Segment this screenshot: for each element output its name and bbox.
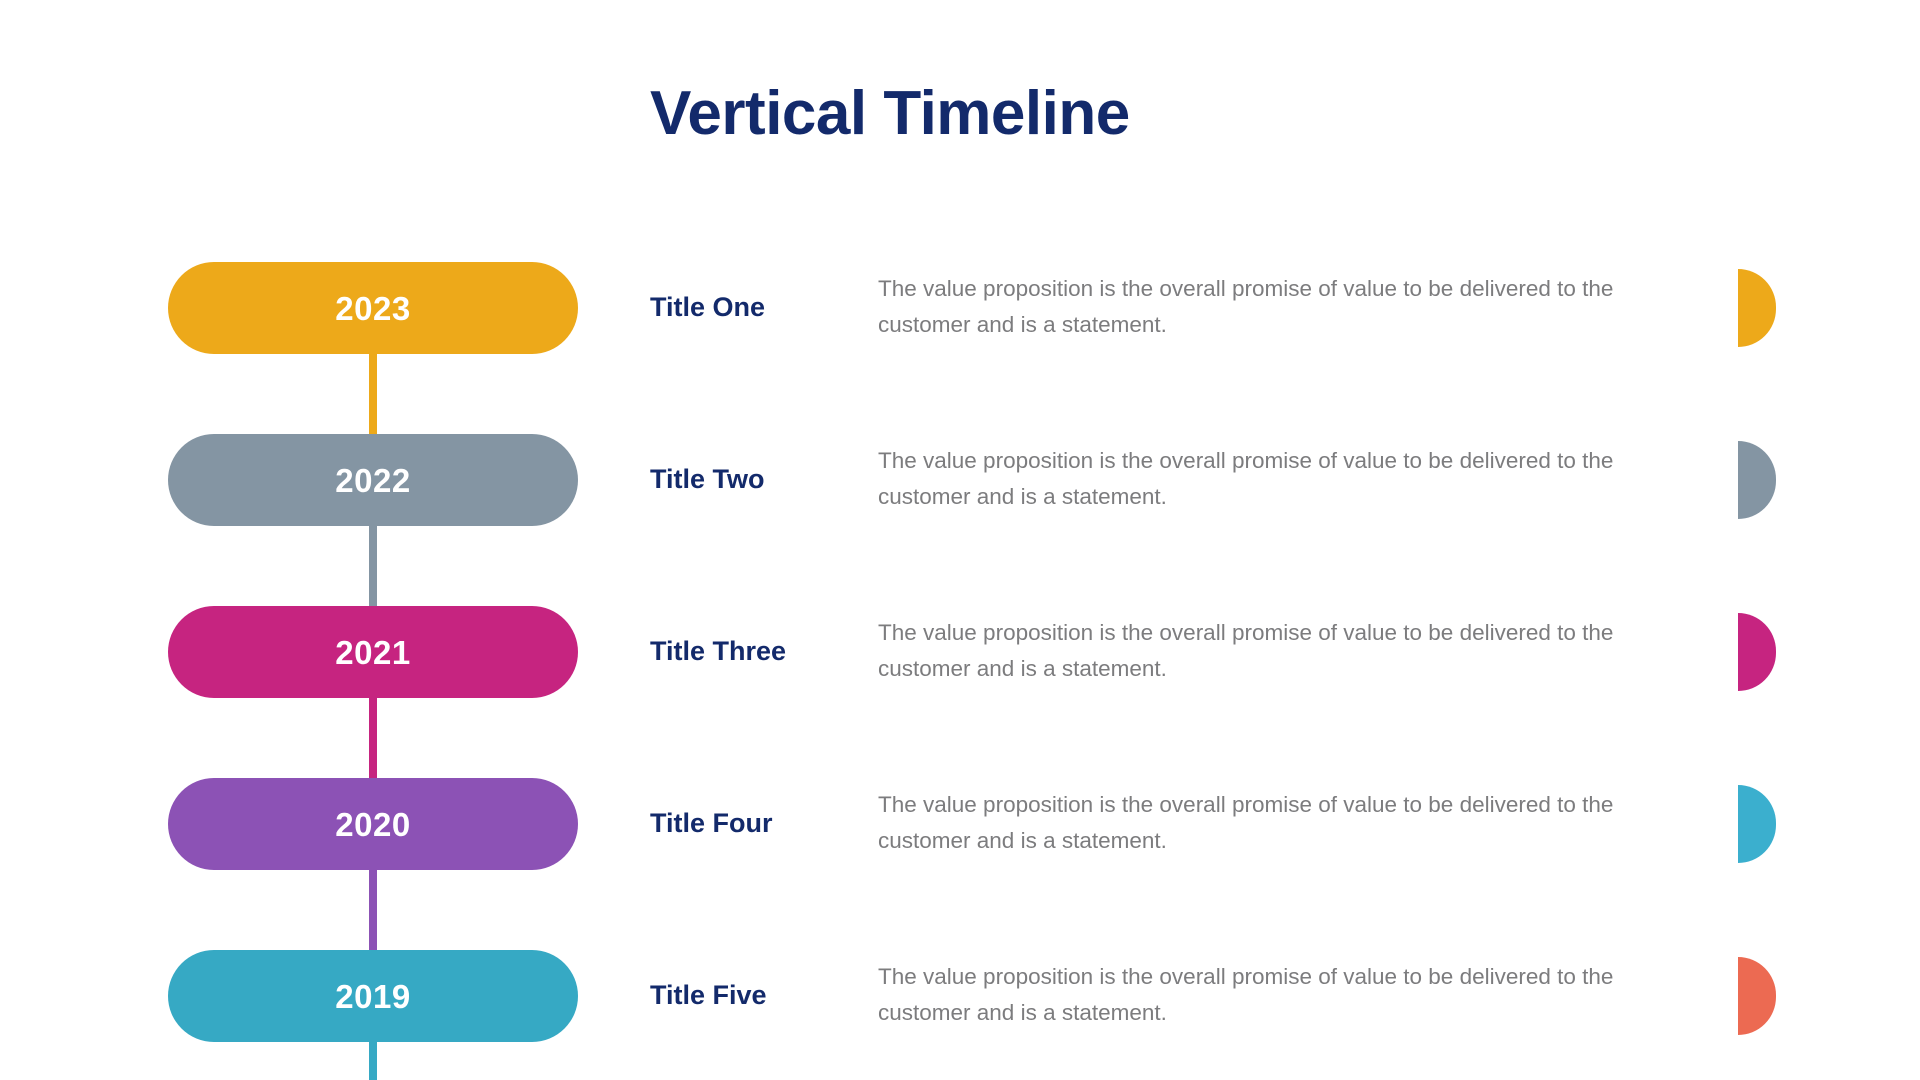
slide-canvas: Vertical Timeline 2023Title OneThe value… — [0, 0, 1920, 1080]
timeline-end-marker — [1738, 957, 1776, 1035]
timeline-end-marker — [1738, 785, 1776, 863]
timeline-row[interactable]: 2023Title OneThe value proposition is th… — [0, 262, 1920, 354]
timeline-end-marker — [1738, 613, 1776, 691]
timeline-item-title: Title Three — [650, 636, 880, 667]
timeline-connector-line — [369, 516, 377, 610]
timeline-connector-line — [369, 860, 377, 954]
timeline-item-title: Title Five — [650, 980, 880, 1011]
timeline-year-label: 2023 — [335, 292, 410, 325]
timeline-year-label: 2019 — [335, 980, 410, 1013]
timeline-end-marker — [1738, 441, 1776, 519]
timeline-item-description: The value proposition is the overall pro… — [878, 959, 1688, 1032]
vertical-timeline: 2023Title OneThe value proposition is th… — [0, 0, 1920, 1080]
timeline-item-description: The value proposition is the overall pro… — [878, 271, 1688, 344]
timeline-connector-line — [369, 688, 377, 782]
timeline-year-pill[interactable]: 2019 — [168, 950, 578, 1042]
timeline-year-pill[interactable]: 2022 — [168, 434, 578, 526]
timeline-item-title: Title Four — [650, 808, 880, 839]
timeline-year-pill[interactable]: 2020 — [168, 778, 578, 870]
timeline-item-description: The value proposition is the overall pro… — [878, 787, 1688, 860]
timeline-item-description: The value proposition is the overall pro… — [878, 615, 1688, 688]
timeline-row[interactable]: 2019Title FiveThe value proposition is t… — [0, 950, 1920, 1042]
timeline-item-title: Title One — [650, 292, 880, 323]
timeline-year-label: 2021 — [335, 636, 410, 669]
timeline-year-pill[interactable]: 2021 — [168, 606, 578, 698]
timeline-connector-line — [369, 344, 377, 438]
timeline-year-label: 2020 — [335, 808, 410, 841]
timeline-year-label: 2022 — [335, 464, 410, 497]
timeline-item-description: The value proposition is the overall pro… — [878, 443, 1688, 516]
timeline-row[interactable]: 2021Title ThreeThe value proposition is … — [0, 606, 1920, 698]
timeline-item-title: Title Two — [650, 464, 880, 495]
timeline-row[interactable]: 2022Title TwoThe value proposition is th… — [0, 434, 1920, 526]
timeline-year-pill[interactable]: 2023 — [168, 262, 578, 354]
timeline-end-marker — [1738, 269, 1776, 347]
timeline-row[interactable]: 2020Title FourThe value proposition is t… — [0, 778, 1920, 870]
